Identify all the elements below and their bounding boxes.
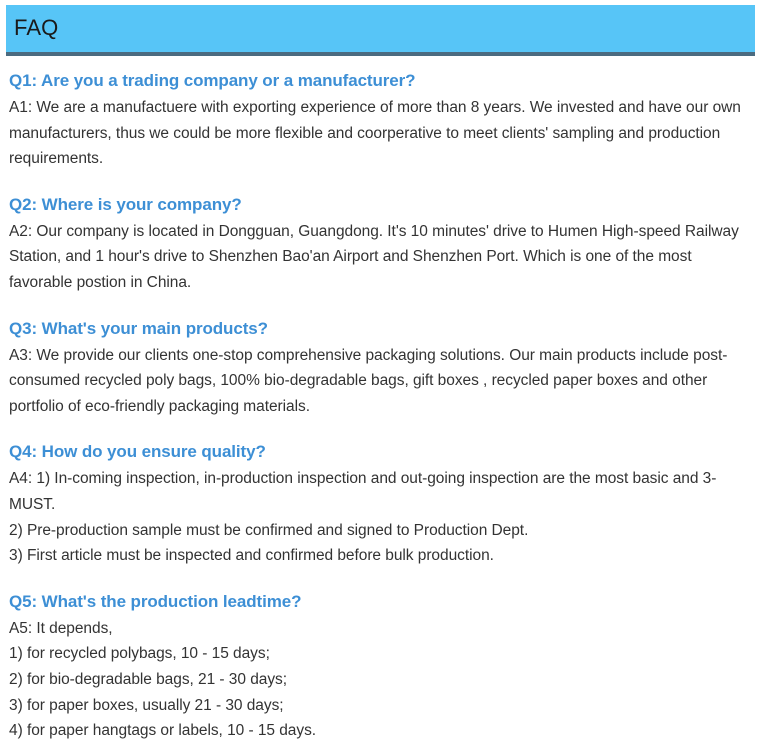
faq-question-q3: Q3: What's your main products?	[9, 316, 753, 342]
faq-item-q1: Q1: Are you a trading company or a manuf…	[9, 68, 753, 172]
faq-answer-q3: A3: We provide our clients one-stop comp…	[9, 343, 753, 420]
faq-item-q4: Q4: How do you ensure quality? A4: 1) In…	[9, 439, 753, 568]
faq-answer-line: 3) First article must be inspected and c…	[9, 543, 753, 569]
faq-question-q4: Q4: How do you ensure quality?	[9, 439, 753, 465]
faq-answer-line: 3) for paper boxes, usually 21 - 30 days…	[9, 693, 753, 719]
faq-item-q5: Q5: What's the production leadtime? A5: …	[9, 589, 753, 744]
faq-answer-q4: A4: 1) In-coming inspection, in-producti…	[9, 466, 753, 568]
faq-question-q1: Q1: Are you a trading company or a manuf…	[9, 68, 753, 94]
faq-answer-line: 2) Pre-production sample must be confirm…	[9, 518, 753, 544]
page-title: FAQ	[14, 15, 58, 41]
faq-answer-line: A5: It depends,	[9, 616, 753, 642]
faq-item-q3: Q3: What's your main products? A3: We pr…	[9, 316, 753, 420]
faq-answer-q1: A1: We are a manufactuere with exporting…	[9, 95, 753, 172]
faq-answer-line: A4: 1) In-coming inspection, in-producti…	[9, 466, 753, 517]
faq-list: Q1: Are you a trading company or a manuf…	[9, 68, 753, 744]
faq-answer-q2: A2: Our company is located in Dongguan, …	[9, 219, 753, 296]
faq-answer-line: 1) for recycled polybags, 10 - 15 days;	[9, 641, 753, 667]
faq-answer-q5: A5: It depends, 1) for recycled polybags…	[9, 616, 753, 744]
faq-answer-line: 4) for paper hangtags or labels, 10 - 15…	[9, 718, 753, 744]
faq-question-q2: Q2: Where is your company?	[9, 192, 753, 218]
faq-question-q5: Q5: What's the production leadtime?	[9, 589, 753, 615]
faq-page: FAQ Q1: Are you a trading company or a m…	[0, 0, 765, 748]
faq-item-q2: Q2: Where is your company? A2: Our compa…	[9, 192, 753, 296]
faq-answer-line: 2) for bio-degradable bags, 21 - 30 days…	[9, 667, 753, 693]
faq-header-banner: FAQ	[6, 5, 755, 56]
